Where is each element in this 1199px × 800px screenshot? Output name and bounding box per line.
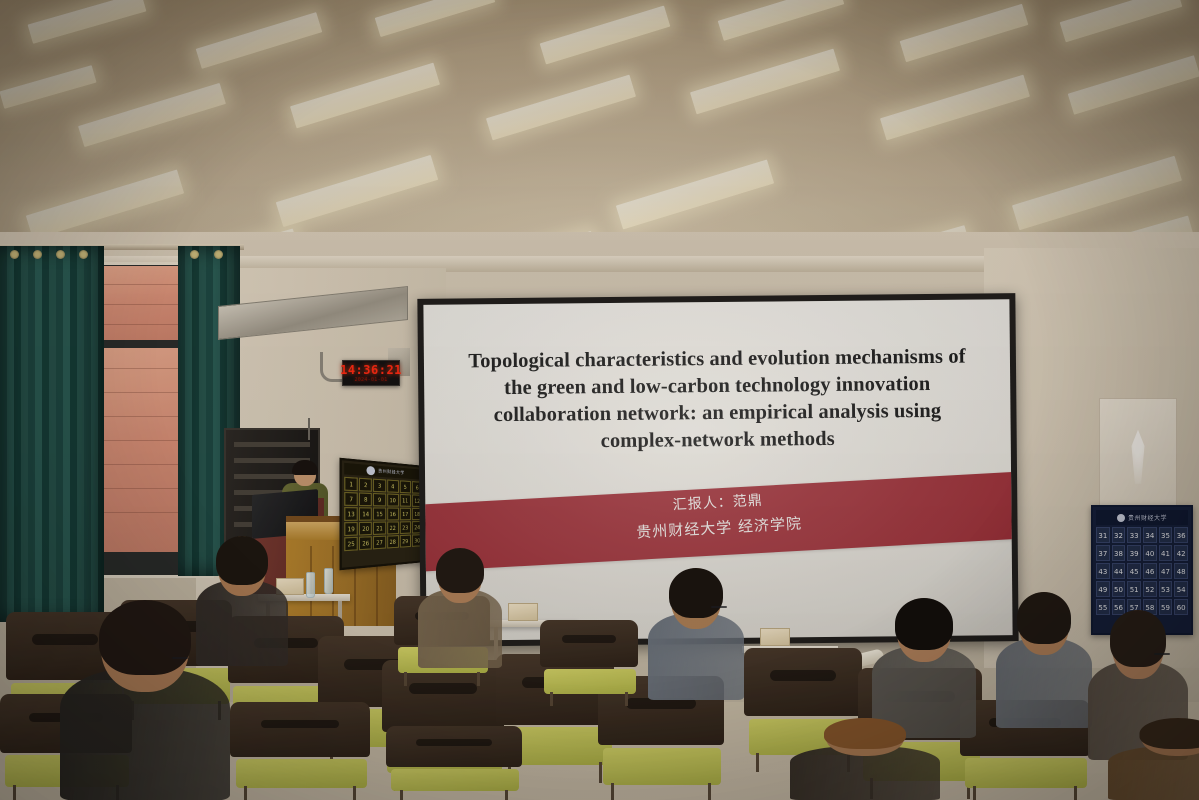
seat-number-cell: 5 <box>400 480 411 493</box>
seat-number-cell: 3 <box>373 479 385 493</box>
seat-number-cell: 50 <box>1112 581 1126 597</box>
wall-poster <box>1099 398 1177 510</box>
seat-number-cell: 1 <box>344 477 358 492</box>
chair-seat <box>965 758 1087 788</box>
seat-number-cell: 43 <box>1096 563 1110 579</box>
seat-number-cell: 16 <box>387 508 399 521</box>
water-bottle-podium-2 <box>324 568 333 594</box>
seat-number-cell: 19 <box>344 522 358 536</box>
person-hair <box>1017 592 1071 644</box>
audience-chair[interactable] <box>386 726 522 800</box>
chair-backrest-slot <box>416 739 492 746</box>
seat-number-cell: 33 <box>1127 527 1141 543</box>
far-right-front <box>1108 718 1199 800</box>
seat-number-cell: 40 <box>1143 545 1157 561</box>
seat-number-cell: 36 <box>1174 527 1188 543</box>
seat-number-cell: 51 <box>1127 581 1141 597</box>
presenter-hair <box>292 460 318 475</box>
person-hair <box>99 600 191 675</box>
center-left-attendee <box>418 548 502 668</box>
chair-legs <box>973 786 1077 800</box>
chair-legs <box>244 786 356 800</box>
seat-number-cell: 22 <box>387 521 399 534</box>
chair-back <box>230 702 370 757</box>
tissue-box-right <box>760 628 790 646</box>
seat-number-cell: 45 <box>1127 563 1141 579</box>
chair-backrest-slot <box>770 670 836 681</box>
person-hair <box>669 568 723 618</box>
water-bottle-podium <box>306 572 315 598</box>
seat-number-cell: 15 <box>373 507 385 520</box>
seat-number-cell: 21 <box>373 522 385 535</box>
eyeglasses <box>172 657 188 659</box>
right-attendee <box>996 592 1092 728</box>
chair-legs <box>550 692 628 705</box>
seat-number-cell: 17 <box>400 508 411 521</box>
chair-back <box>540 620 638 667</box>
seat-board-left-title: 贵州财经大学 <box>378 468 404 476</box>
clock-time: 14:36:21 <box>340 364 402 376</box>
chair-seat <box>236 759 368 788</box>
chair-backrest-slot <box>562 635 617 643</box>
seat-board-right-header: 贵州财经大学 <box>1096 510 1188 525</box>
seat-number-cell: 41 <box>1159 545 1173 561</box>
seat-number-cell: 47 <box>1159 563 1173 579</box>
seat-number-cell: 49 <box>1096 581 1110 597</box>
seat-number-cell: 42 <box>1174 545 1188 561</box>
eyeglasses <box>711 606 727 608</box>
person-hair <box>895 598 953 650</box>
seat-number-cell: 2 <box>359 478 372 492</box>
university-emblem-icon <box>367 466 375 476</box>
curtain-left[interactable] <box>0 246 104 622</box>
seat-number-cell: 25 <box>344 537 358 552</box>
slide-title-line-3: collaboration network: an empirical anal… <box>448 397 987 429</box>
seat-number-cell: 4 <box>387 479 399 492</box>
seat-board-right-title: 贵州财经大学 <box>1128 513 1167 522</box>
slide-title-line-4: complex-network methods <box>448 424 987 456</box>
seat-number-grid-left: 1234567891011121314151617181920212223242… <box>344 477 422 551</box>
seat-number-cell: 37 <box>1096 545 1110 561</box>
seat-number-cell: 35 <box>1159 527 1173 543</box>
seat-number-cell: 52 <box>1143 581 1157 597</box>
seat-number-cell: 10 <box>387 494 399 507</box>
seat-number-cell: 13 <box>344 507 358 521</box>
seat-number-board-left: 贵州财经大学 123456789101112131415161718192021… <box>340 458 426 571</box>
seat-number-cell: 9 <box>373 493 385 506</box>
led-wall-clock: 14:36:21 2024-01-01 <box>342 360 400 386</box>
seat-number-cell: 11 <box>400 494 411 507</box>
seat-number-cell: 53 <box>1159 581 1173 597</box>
clock-sub-display: 2024-01-01 <box>354 378 387 383</box>
tissue-box-center <box>508 603 538 621</box>
right-center-attendee <box>872 598 976 738</box>
chair-seat <box>603 748 721 785</box>
seat-number-cell: 20 <box>359 522 372 536</box>
seat-number-cell: 26 <box>359 536 372 550</box>
seat-number-cell: 38 <box>1112 545 1126 561</box>
microphone-stand <box>308 418 310 440</box>
seat-number-cell: 14 <box>359 507 372 521</box>
seat-number-cell: 44 <box>1112 563 1126 579</box>
chair-seat <box>391 769 519 791</box>
person-hair <box>436 548 484 593</box>
mid-left-attendee <box>196 536 288 666</box>
person-hair <box>1110 610 1166 667</box>
seat-number-cell: 8 <box>359 492 372 506</box>
center-attendee <box>648 568 744 700</box>
seat-number-cell: 7 <box>344 492 358 506</box>
seat-number-cell: 31 <box>1096 527 1110 543</box>
slide-title: Topological characteristics and evolutio… <box>447 343 987 456</box>
person-hair <box>824 718 906 749</box>
seat-number-cell: 39 <box>1127 545 1141 561</box>
chair-back <box>386 726 522 767</box>
seat-number-cell: 48 <box>1174 563 1188 579</box>
audience-chair[interactable] <box>230 702 370 800</box>
seat-number-cell: 54 <box>1174 581 1188 597</box>
person-hair <box>1140 718 1199 749</box>
seat-number-cell: 28 <box>387 535 399 548</box>
university-emblem-icon <box>1117 514 1125 522</box>
seat-number-grid-right: 3132333435363738394041424344454647484950… <box>1096 527 1188 615</box>
seat-number-cell: 46 <box>1143 563 1157 579</box>
chair-back <box>744 648 862 716</box>
chair-legs <box>611 783 712 800</box>
lecture-hall-photo: 14:36:21 2024-01-01 贵州财经大学 1234567891011… <box>0 0 1199 800</box>
chair-seat <box>544 669 636 694</box>
seat-number-cell: 29 <box>400 535 411 548</box>
eyeglasses <box>1154 653 1170 655</box>
foreground-attendee <box>790 718 940 800</box>
seat-number-cell: 32 <box>1112 527 1126 543</box>
audience-chair[interactable] <box>540 620 638 704</box>
chair-backrest-slot <box>261 720 339 729</box>
seat-number-cell: 23 <box>400 521 411 534</box>
person-hair <box>216 536 268 585</box>
poster-figure-graphic <box>1125 430 1151 484</box>
seat-number-cell: 27 <box>373 536 385 550</box>
chair-legs <box>404 672 481 686</box>
seat-number-cell: 34 <box>1143 527 1157 543</box>
chair-legs <box>400 790 509 800</box>
